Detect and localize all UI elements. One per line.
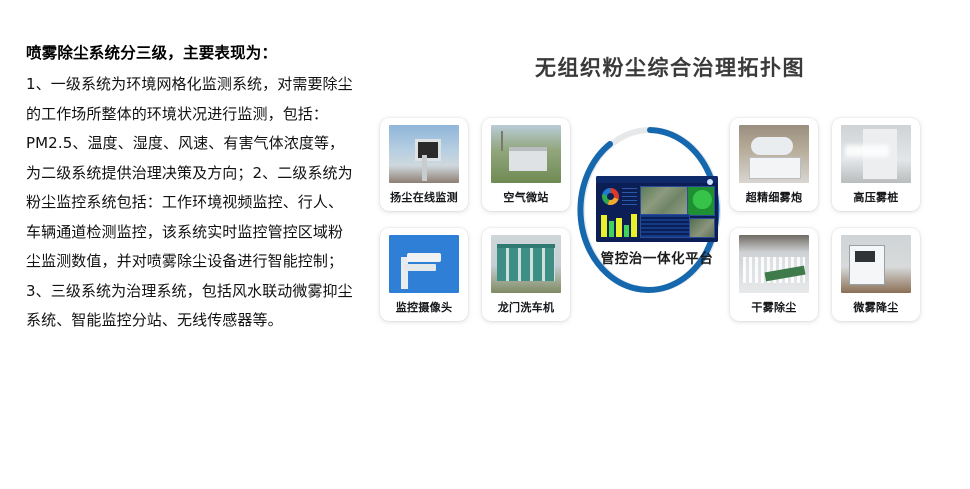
ultra-fine-fog-cannon-photo: [739, 125, 809, 183]
card-label: 微雾降尘: [853, 299, 898, 315]
gear-icon: [707, 179, 713, 185]
card-ultra-fine-fog-cannon[interactable]: 超精细雾炮: [730, 118, 818, 211]
description-paragraph: 1、一级系统为环境网格化监测系统，对需要除尘的工作场所整体的环境状况进行监测，包…: [26, 70, 356, 336]
hub-content: 管控治一体化平台: [596, 176, 718, 267]
bar-chart: [601, 211, 637, 237]
platform-dashboard-screenshot: [596, 176, 718, 242]
gantry-car-wash-photo: [491, 235, 561, 293]
donut-chart: [602, 188, 619, 205]
card-label: 高压雾桩: [853, 189, 898, 205]
card-gantry-car-wash[interactable]: 龙门洗车机: [482, 228, 570, 321]
card-high-pressure-mist-post[interactable]: 高压雾桩: [832, 118, 920, 211]
card-label: 超精细雾炮: [746, 189, 803, 205]
card-label: 干雾除尘: [751, 299, 796, 315]
central-platform-hub: 管控治一体化平台: [572, 118, 728, 303]
card-label: 空气微站: [503, 189, 548, 205]
card-surveillance-camera[interactable]: 监控摄像头: [380, 228, 468, 321]
dust-monitor-photo: [389, 125, 459, 183]
region-map-panel: [687, 186, 715, 216]
data-table-panel: [640, 214, 690, 238]
dry-fog-dust-removal-photo: [739, 235, 809, 293]
card-label: 监控摄像头: [396, 299, 453, 315]
description-heading: 喷雾除尘系统分三级，主要表现为：: [26, 38, 356, 68]
card-label: 龙门洗车机: [498, 299, 555, 315]
hub-label: 管控治一体化平台: [596, 247, 718, 267]
description-panel: 喷雾除尘系统分三级，主要表现为： 1、一级系统为环境网格化监测系统，对需要除尘的…: [26, 38, 356, 336]
diagram-title: 无组织粉尘综合治理拓扑图: [370, 52, 970, 82]
topology-diagram: 无组织粉尘综合治理拓扑图 扬尘在线监测 空气微站 监控摄像头 龙门洗车机 超精细…: [370, 0, 970, 489]
card-label: 扬尘在线监测: [390, 189, 458, 205]
aerial-view-panel-secondary: [687, 218, 715, 238]
micro-mist-dust-suppression-photo: [841, 235, 911, 293]
card-air-micro-station[interactable]: 空气微站: [482, 118, 570, 211]
high-pressure-mist-post-photo: [841, 125, 911, 183]
card-dust-online-monitoring[interactable]: 扬尘在线监测: [380, 118, 468, 211]
air-micro-station-photo: [491, 125, 561, 183]
card-dry-fog-dust-removal[interactable]: 干雾除尘: [730, 228, 818, 321]
surveillance-camera-photo: [389, 235, 459, 293]
card-micro-mist-dust-suppression[interactable]: 微雾降尘: [832, 228, 920, 321]
